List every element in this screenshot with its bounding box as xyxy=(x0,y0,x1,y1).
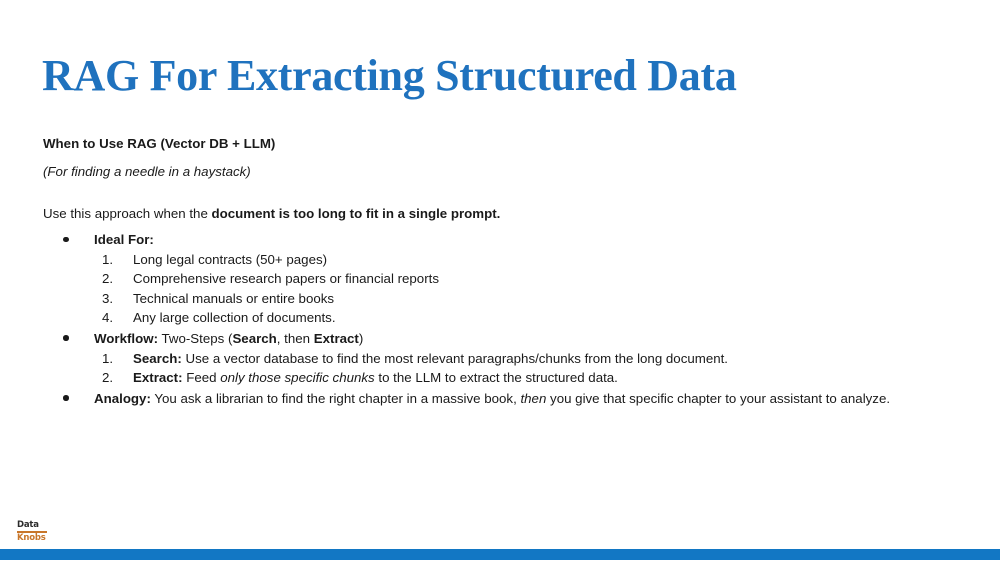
sub-item-number: 1. xyxy=(102,349,124,369)
lead-statement-bold: document is too long to fit in a single … xyxy=(212,206,501,221)
footer-accent-bar xyxy=(0,549,1000,560)
list-item: 4. Any large collection of documents. xyxy=(94,308,958,328)
slide-body: When to Use RAG (Vector DB + LLM) (For f… xyxy=(43,134,958,409)
bullet-dot-icon xyxy=(63,395,69,401)
list-item: 1. Long legal contracts (50+ pages) xyxy=(94,250,958,270)
sub-item-text: Any large collection of documents. xyxy=(133,310,336,325)
sub-item-number: 2. xyxy=(102,368,124,388)
list-item: 2. Extract: Feed only those specific chu… xyxy=(94,368,958,388)
brand-logo-bottom: Knobs xyxy=(17,534,49,543)
bullet-text-bold: Search xyxy=(232,331,276,346)
sub-item-number: 2. xyxy=(102,269,124,289)
list-item: Analogy: You ask a librarian to find the… xyxy=(43,389,958,409)
sub-item-text-italic: only those specific chunks xyxy=(220,370,374,385)
bullet-text-plain: ) xyxy=(359,331,363,346)
list-item: 2. Comprehensive research papers or fina… xyxy=(94,269,958,289)
bullet-label: Workflow: xyxy=(94,331,158,346)
sub-list: 1. Long legal contracts (50+ pages) 2. C… xyxy=(94,250,958,328)
sub-item-number: 1. xyxy=(102,250,124,270)
bullet-label: Analogy: xyxy=(94,391,151,406)
section-subtitle: (For finding a needle in a haystack) xyxy=(43,162,958,182)
list-item: 3. Technical manuals or entire books xyxy=(94,289,958,309)
brand-logo-top: Data xyxy=(17,521,49,530)
sub-item-text-plain: to the LLM to extract the structured dat… xyxy=(375,370,618,385)
bullet-text-plain: You ask a librarian to find the right ch… xyxy=(151,391,521,406)
sub-list: 1. Search: Use a vector database to find… xyxy=(94,349,958,388)
bullet-text-plain: Two-Steps ( xyxy=(158,331,232,346)
brand-logo: Data Knobs xyxy=(17,521,49,543)
bullet-dot-icon xyxy=(63,237,69,243)
section-heading: When to Use RAG (Vector DB + LLM) xyxy=(43,134,958,154)
page-title: RAG For Extracting Structured Data xyxy=(42,51,737,101)
sub-item-number: 3. xyxy=(102,289,124,309)
bullet-text-plain: you give that specific chapter to your a… xyxy=(546,391,890,406)
list-item: Workflow: Two-Steps (Search, then Extrac… xyxy=(43,329,958,388)
list-item: 1. Search: Use a vector database to find… xyxy=(94,349,958,369)
sub-item-text: Comprehensive research papers or financi… xyxy=(133,271,439,286)
sub-item-text-plain: Feed xyxy=(183,370,221,385)
sub-item-text: Long legal contracts (50+ pages) xyxy=(133,252,327,267)
bullet-text-plain: , then xyxy=(277,331,314,346)
sub-item-number: 4. xyxy=(102,308,124,328)
sub-item-text: Use a vector database to find the most r… xyxy=(182,351,728,366)
lead-statement-plain: Use this approach when the xyxy=(43,206,212,221)
lead-statement: Use this approach when the document is t… xyxy=(43,204,958,224)
list-item: Ideal For: 1. Long legal contracts (50+ … xyxy=(43,230,958,328)
sub-item-label: Extract: xyxy=(133,370,183,385)
bullet-label: Ideal For: xyxy=(94,232,154,247)
sub-item-label: Search: xyxy=(133,351,182,366)
bullet-text-bold: Extract xyxy=(314,331,359,346)
bullet-dot-icon xyxy=(63,335,69,341)
bullet-text-italic: then xyxy=(520,391,546,406)
slide-canvas: RAG For Extracting Structured Data When … xyxy=(0,0,1000,563)
sub-item-text: Technical manuals or entire books xyxy=(133,291,334,306)
bullet-list: Ideal For: 1. Long legal contracts (50+ … xyxy=(43,230,958,408)
